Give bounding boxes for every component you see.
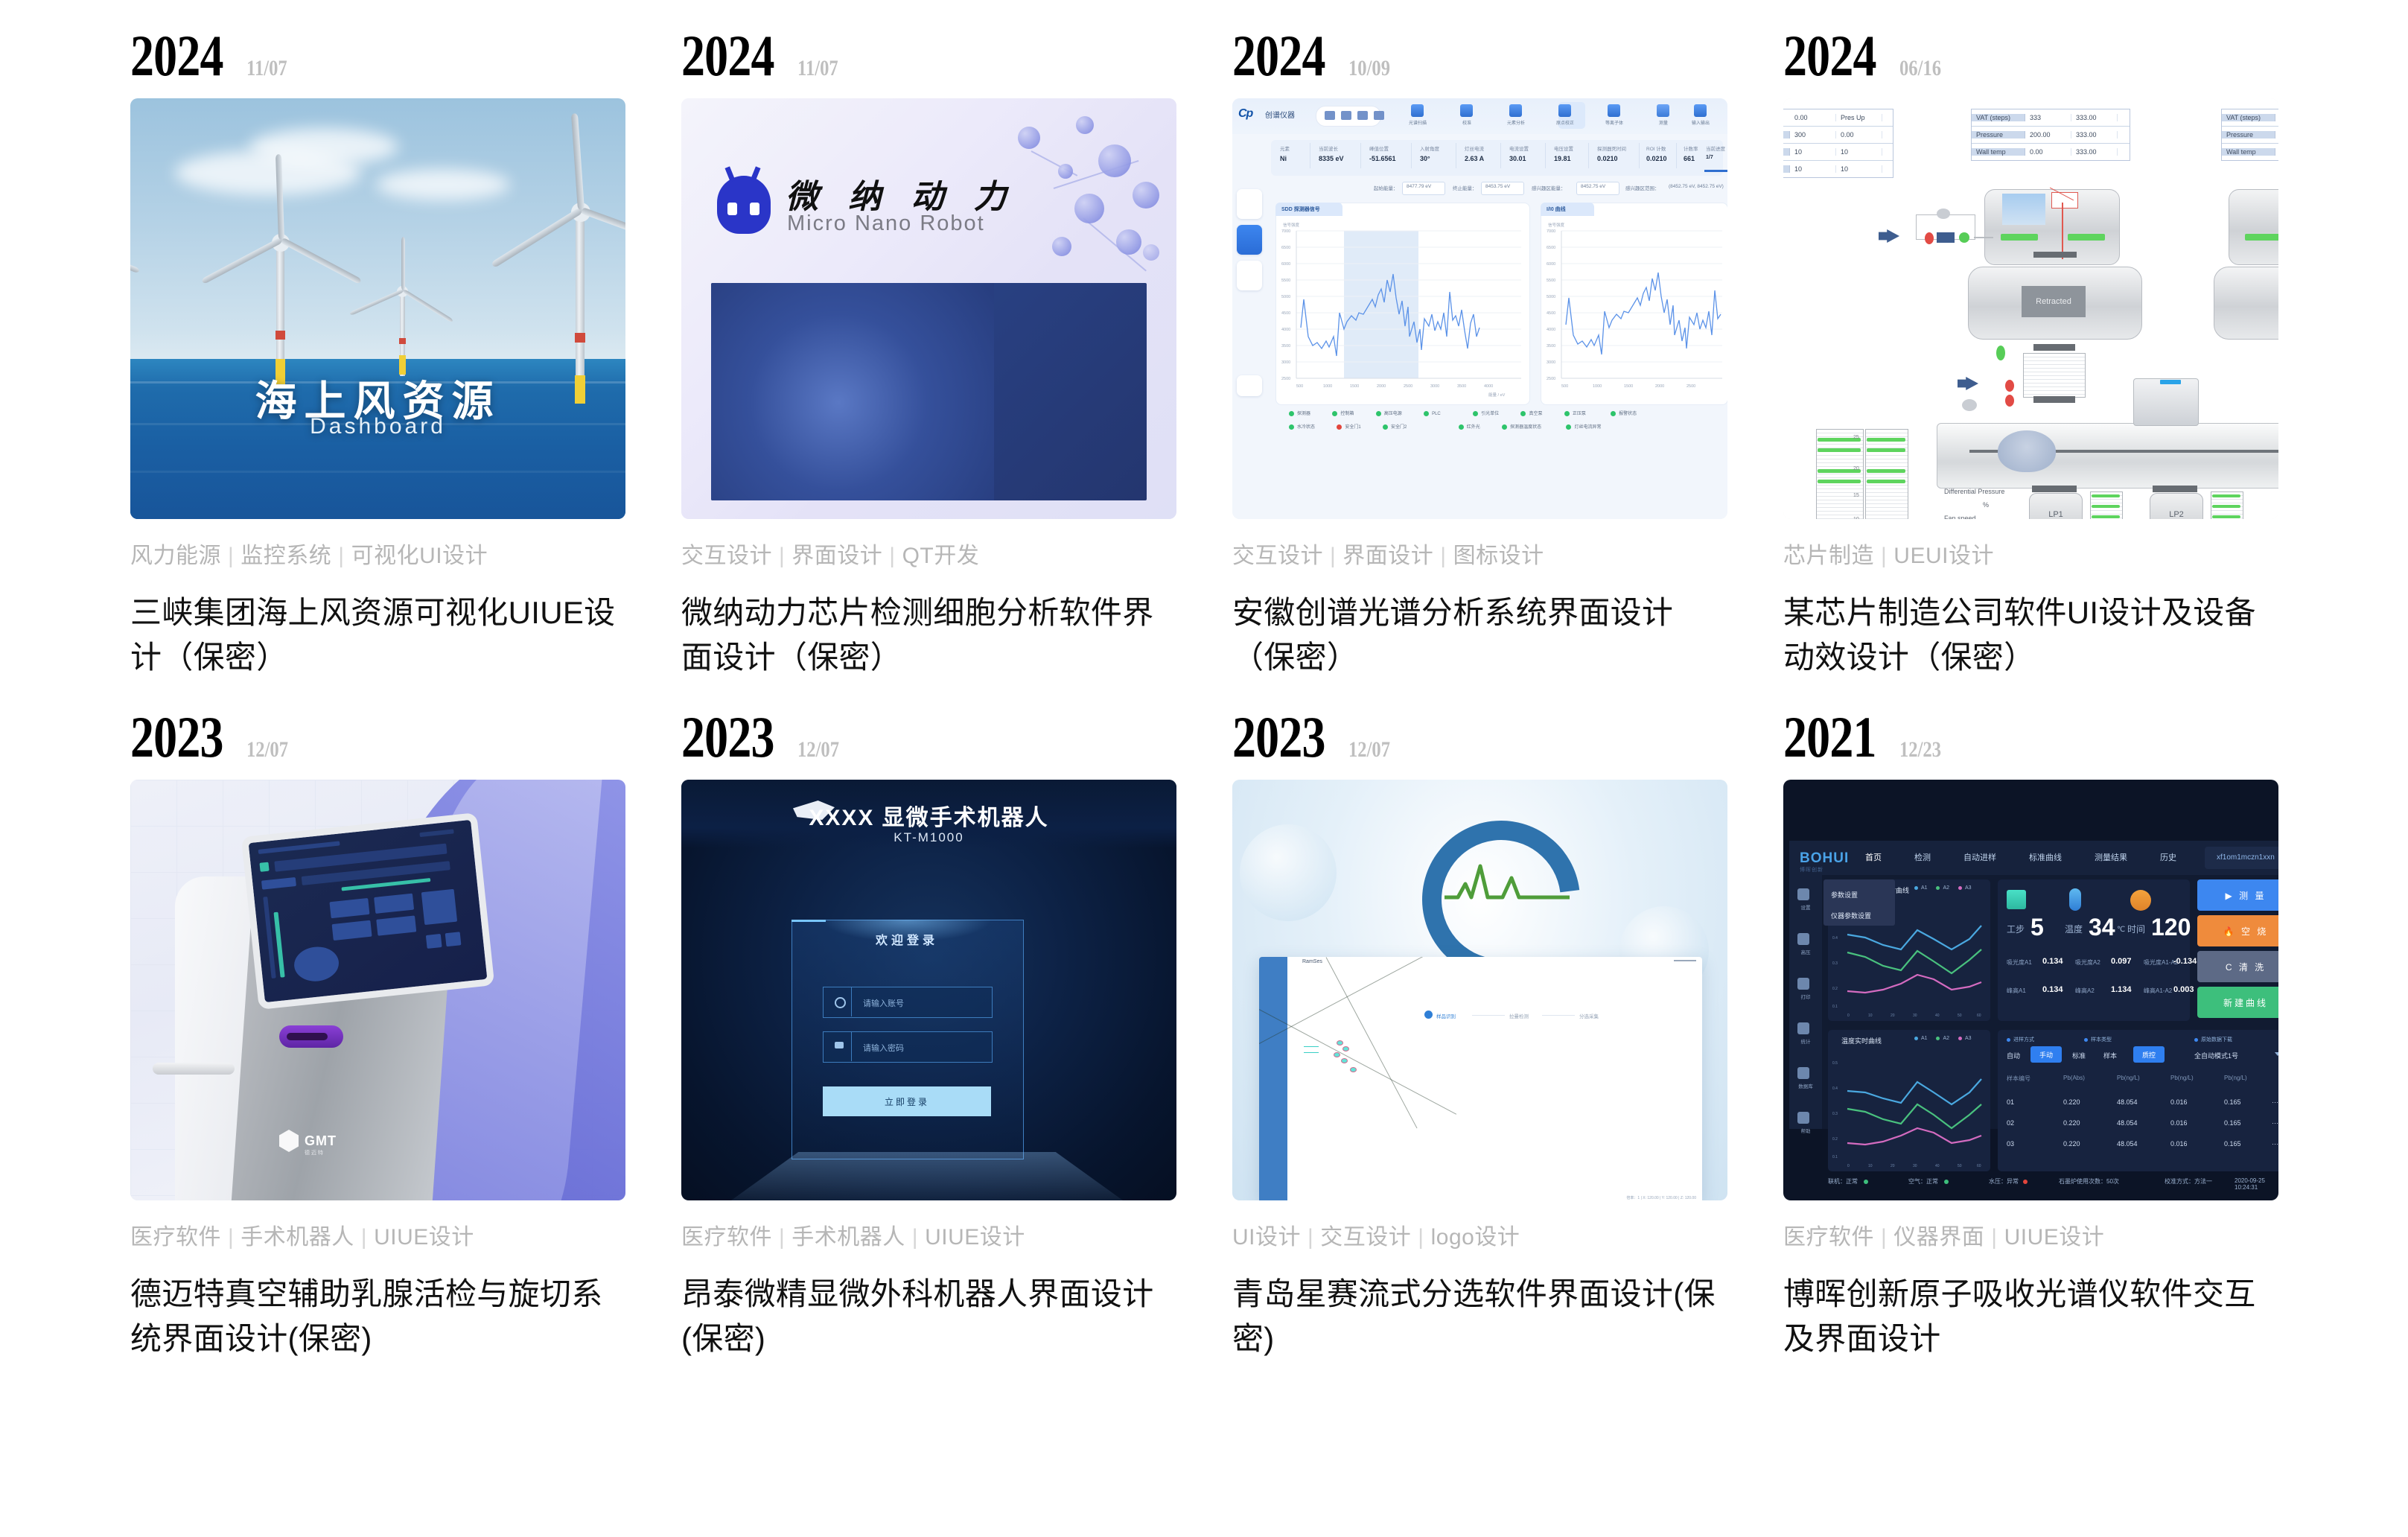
detected-cell	[1337, 1040, 1343, 1046]
project-tags: 芯片制造|UEUI设计	[1783, 541, 2278, 571]
molecule-node	[1133, 182, 1159, 209]
table-cell: 300	[1790, 131, 1836, 139]
turbo-pump	[2023, 353, 2086, 398]
table-cell: 333.00	[2071, 148, 2118, 156]
radio-standard[interactable]: 标准	[2072, 1051, 2086, 1060]
screen-button[interactable]	[374, 894, 414, 914]
wafer-slot-filled	[1867, 448, 1905, 452]
status-label: 正压泵	[1573, 412, 1586, 416]
app-toolbar	[1232, 98, 1727, 134]
table-cell: Pres Up	[1836, 114, 1882, 121]
svg-text:60: 60	[1977, 1013, 1981, 1018]
table-cell: 0.220	[2063, 1140, 2080, 1148]
side-button-measure-mode[interactable]	[1237, 189, 1262, 219]
project-thumbnail-surgical-robot-login[interactable]: XXXX 显微手术机器人 KT-M1000 欢迎登录 请输入账号 请输入密码 立…	[681, 780, 1176, 1200]
crosshair-line	[1328, 1028, 1328, 1040]
svg-text:5500: 5500	[1547, 279, 1555, 283]
user-avatar[interactable]	[1237, 401, 1262, 421]
svg-text:0.1: 0.1	[1832, 1005, 1838, 1009]
project-thumbnail-micro-nano-robot[interactable]: 微 纳 动 力 Micro Nano Robot 微 纳 动 力 您好！欢迎登录…	[681, 98, 1176, 519]
screen-tab[interactable]	[261, 877, 296, 890]
toolbar-icon-scan[interactable]	[1411, 104, 1424, 117]
stat-key: 电流设置	[1509, 144, 1529, 152]
login-button[interactable]: 立即登录	[823, 1086, 991, 1116]
readout-value: 0.134	[2042, 985, 2063, 994]
nav-item-results[interactable]: 测量结果	[2095, 851, 2127, 863]
svg-text:3000: 3000	[1547, 360, 1555, 365]
table-cell: 48.054	[2117, 1140, 2138, 1148]
project-thumbnail-offshore-wind[interactable]: 海上风资源 Dashboard	[130, 98, 625, 519]
row-actions[interactable]: ···	[2272, 1140, 2278, 1148]
status-dot-green	[1611, 411, 1616, 416]
screen-button[interactable]	[329, 898, 369, 918]
login-window-mockup: 微 纳 动 力 您好！欢迎登录 账号登录 验证码登录 请输入账号 请输入密码 请…	[711, 283, 1147, 500]
svg-text:20: 20	[1891, 1013, 1895, 1018]
project-card[interactable]: 2024 10/09 Cp 创谱仪器 光谱扫描 校准 元素分析 原点校正	[1232, 27, 1727, 680]
svg-text:0.2: 0.2	[1832, 987, 1838, 991]
new-curve-button[interactable]: 新建曲线	[2197, 987, 2278, 1018]
load-port-flange	[2032, 486, 2077, 492]
popup-item-params[interactable]: 参数设置	[1831, 890, 1858, 900]
table-cell: 02	[2007, 1119, 2014, 1127]
table-cell: 0.220	[2063, 1119, 2080, 1127]
project-title[interactable]: 某芯片制造公司软件UI设计及设备动效设计（保密）	[1783, 591, 2278, 680]
project-title[interactable]: 微纳动力芯片检测细胞分析软件界面设计（保密）	[681, 591, 1176, 680]
pressure-table: 0.00Pres Up PB3000.00 PB1010 PC1010	[1783, 109, 1893, 178]
row-actions[interactable]: ···	[2272, 1098, 2278, 1106]
status-water: 水压：异常	[1989, 1177, 2019, 1186]
indicator-green	[2001, 234, 2038, 241]
project-tags: 医疗软件|手术机器人|UIUE设计	[681, 1223, 1176, 1253]
table-header: Pb(ng/L)	[2117, 1075, 2140, 1081]
lock-icon	[835, 1042, 844, 1048]
kpi-label-time: 时间	[2127, 923, 2145, 935]
sidebar-icon-records[interactable]	[1797, 1067, 1809, 1079]
svg-text:2500: 2500	[1404, 384, 1412, 389]
year-header: 2024 10/09	[1232, 27, 1727, 98]
date-label: 11/07	[797, 57, 838, 80]
readout-key: 吸光度A1	[2007, 958, 2032, 967]
readout-value: 0.134	[2042, 957, 2063, 966]
wafer-slot-filled	[2212, 505, 2240, 508]
svg-text:能量 / eV: 能量 / eV	[1488, 392, 1506, 398]
year-label: 2024	[130, 27, 223, 85]
start-button[interactable]: ▶ 测 量	[2197, 879, 2278, 911]
valve-closed-icon	[2005, 380, 2014, 392]
project-thumbnail-medical-device[interactable]: GMT 德迈特	[130, 780, 625, 1200]
nav-item-autosampler[interactable]: 自动进样	[1963, 851, 1996, 863]
status-label: 引光单位	[1481, 412, 1499, 416]
tag: 界面设计	[1342, 544, 1433, 568]
window-controls[interactable]	[1674, 960, 1696, 961]
status-dot-red	[1337, 424, 1342, 430]
stat-key: 灯丝电流	[1465, 144, 1484, 152]
toolbar-icon-origin[interactable]	[1558, 104, 1571, 117]
percent-unit-label: %	[1983, 500, 1989, 510]
indicator-green	[2068, 234, 2105, 241]
list-icon[interactable]	[1357, 111, 1368, 120]
kpi-value-temp: 34	[2089, 914, 2115, 941]
sidebar-icon-stats[interactable]	[1797, 1022, 1809, 1034]
chip-value: 8452.75 eV	[1581, 184, 1605, 189]
status-dot-green	[1289, 411, 1294, 416]
year-label: 2023	[130, 708, 223, 766]
chip-label: 感兴趣区范围：	[1625, 184, 1660, 191]
toolbar-icon-io[interactable]	[1694, 104, 1707, 117]
chip-label: 终止能量：	[1453, 184, 1477, 191]
control-group-label: 进样方式	[2007, 1036, 2034, 1043]
password-input[interactable]	[823, 1031, 993, 1063]
flow-controller	[1937, 209, 1950, 219]
tag-separator: |	[1411, 1225, 1430, 1250]
sidebar-icon-calibrate[interactable]	[1797, 933, 1809, 945]
wafer-slot-filled	[1867, 438, 1905, 442]
chamber-state-label: Retracted	[2022, 286, 2086, 317]
stat-key: 探测器死时间	[1597, 144, 1626, 152]
load-port-lp1[interactable]: LP1	[2029, 493, 2083, 519]
toolbar-label: 光谱扫描	[1405, 119, 1430, 126]
wafer-slot-filled	[1867, 480, 1905, 483]
svg-text:3500: 3500	[1281, 344, 1290, 349]
molecule-node	[1052, 237, 1071, 256]
divider	[1639, 143, 1640, 168]
status-legend-row1: 探测器 控制箱 高压电源 PLC 引光单位 真空泵 正压泵 报警状态	[1289, 410, 1637, 416]
chevron-down-icon[interactable]	[2275, 1052, 2278, 1056]
plasma-field	[2002, 194, 2045, 225]
status-label: 报警状态	[1619, 412, 1637, 416]
wave-line	[130, 471, 625, 473]
status-method: 校准方式：方法一	[2165, 1177, 2212, 1186]
tag-separator: |	[1301, 1225, 1320, 1250]
wafer-slot-filled	[1867, 469, 1905, 473]
side-button-data-export[interactable]	[1237, 261, 1262, 290]
project-thumbnail-bohui-dashboard[interactable]: BOHUI 博晖创新 首页 检测 自动进样 标准曲线 测量结果 历史 xf1om…	[1783, 780, 2278, 1200]
tag: 交互设计	[1232, 544, 1323, 568]
svg-text:2000: 2000	[1655, 384, 1664, 389]
sidebar-label: 高压	[1789, 948, 1822, 955]
table-header: 样本编号	[2007, 1075, 2030, 1083]
project-card[interactable]: 2024 11/07	[130, 27, 625, 680]
svg-text:信号强度: 信号强度	[1548, 222, 1565, 228]
svg-text:6500: 6500	[1547, 246, 1555, 250]
screen-button[interactable]	[376, 915, 416, 935]
project-card[interactable]: 2024 11/07 微 纳 动 力 Micro Nano Ro	[681, 27, 1176, 680]
tag-separator: |	[882, 544, 902, 568]
table-cell: 10	[1836, 148, 1882, 156]
clean-button[interactable]: C 清 洗	[2197, 951, 2278, 982]
year-header: 2023 12/07	[1232, 708, 1727, 780]
nav-item-standard-curve[interactable]: 标准曲线	[2029, 851, 2062, 863]
cassette-scale-15: 15	[1853, 493, 1859, 498]
toolbar-icon-calibrate[interactable]	[1460, 104, 1473, 117]
login-hero-panel	[711, 283, 994, 500]
tag: 医疗软件	[681, 1225, 772, 1250]
save-icon[interactable]	[1341, 111, 1351, 120]
tag: 仪器界面	[1893, 1225, 1984, 1250]
control-group-label: 原始数据下载	[2194, 1036, 2232, 1043]
tag: 可视化UI设计	[351, 544, 488, 568]
lock-icon[interactable]	[1374, 111, 1384, 120]
year-header: 2024 06/16	[1783, 27, 2278, 98]
radio-qc[interactable]: 质控	[2133, 1046, 2165, 1063]
project-title[interactable]: 三峡集团海上风资源可视化UIUE设计（保密）	[130, 591, 625, 680]
screen-small-button[interactable]	[426, 934, 442, 949]
legend-label: A2	[1943, 1036, 1949, 1041]
sidebar-icon-settings[interactable]	[1797, 888, 1809, 900]
turbine-marker	[575, 333, 585, 343]
project-grid: 2024 11/07	[0, 0, 2408, 1537]
project-card[interactable]: 2024 06/16 0.00Pres Up PB3000.00 PB1010 …	[1783, 27, 2278, 680]
valve-open-icon	[1959, 232, 1969, 243]
project-card[interactable]: 2021 12/23 BOHUI 博晖创新 首页 检测 自动进样 标准曲线 测量…	[1783, 708, 2278, 1361]
status-dot-green	[1473, 411, 1478, 416]
vat-table-2: VAT (steps) Pressure Wall temp	[2221, 109, 2278, 161]
svg-text:2500: 2500	[1686, 384, 1695, 389]
stat-key: 峰值位置	[1369, 144, 1389, 152]
vat-table-1: VAT (steps)333333.00 Pressure200.00333.0…	[1971, 109, 2130, 161]
toolbar-icon-measure[interactable]	[1657, 104, 1669, 117]
open-icon[interactable]	[1325, 111, 1335, 120]
account-input[interactable]	[823, 987, 993, 1018]
toolbar-icon-plasma[interactable]	[1608, 104, 1620, 117]
popup-item-instrument[interactable]: 仪器参数设置	[1831, 911, 1871, 920]
load-port-flange	[2153, 486, 2197, 492]
divider	[1588, 143, 1589, 168]
radio-auto[interactable]: 自动	[2007, 1051, 2020, 1060]
progress-bar	[1704, 170, 1727, 172]
stat-value: 1/7	[1706, 155, 1713, 160]
app-title: RamSes	[1302, 959, 1322, 964]
project-thumbnail-spectrum-dashboard[interactable]: Cp 创谱仪器 光谱扫描 校准 元素分析 原点校正 等离子体 测量 输入输出 设…	[1232, 98, 1727, 519]
svg-text:0: 0	[1847, 1164, 1850, 1168]
detected-cell	[1334, 1052, 1340, 1057]
radio-manual[interactable]: 手动	[2030, 1046, 2062, 1063]
sidebar-label: 统计	[1789, 1037, 1822, 1045]
year-header: 2023 12/07	[681, 708, 1176, 780]
readout-value: 0.003	[2173, 985, 2194, 994]
nav-item-history[interactable]: 历史	[2160, 851, 2176, 863]
stat-value: 8335 eV	[1319, 155, 1344, 162]
status-label: 灯丝电流异常	[1574, 425, 1601, 430]
status-label: 安全门1	[1345, 425, 1360, 430]
temperature-chart: 0.50.40.3 0.20.1 01020 30405060	[1828, 1046, 1990, 1170]
tag: UIUE设计	[2004, 1225, 2105, 1250]
stat-value: 30.01	[1509, 155, 1526, 162]
svg-text:0.1: 0.1	[1832, 1155, 1838, 1159]
crosshair-line	[1304, 1052, 1319, 1053]
project-card[interactable]: 2023 12/07	[130, 708, 625, 1361]
wafer-cassette-1	[1816, 429, 1864, 519]
sdd-signal-chart: 700065006000 550050004500 40003500300025…	[1275, 217, 1529, 404]
table-cell: Wall temp	[1972, 148, 2025, 156]
table-cell: Pressure	[1972, 131, 2025, 139]
status-dot-green	[1459, 424, 1464, 430]
svg-text:0.4: 0.4	[1832, 1086, 1838, 1091]
row-actions[interactable]: ···	[2272, 1119, 2278, 1127]
molecule-node	[1098, 144, 1131, 177]
tag-separator: |	[905, 1225, 925, 1250]
legend-label: A2	[1943, 885, 1949, 891]
project-thumbnail-flow-cytometry[interactable]: 实时控制 样品检测 分选控制 数据分析 RamSes	[1232, 780, 1727, 1200]
stat-key: 当前进度	[1706, 144, 1725, 152]
brand-name: 创谱仪器	[1265, 109, 1295, 120]
project-tags: 医疗软件|仪器界面|UIUE设计	[1783, 1223, 2278, 1253]
tag: 医疗软件	[1783, 1225, 1874, 1250]
toolbar-icon-element[interactable]	[1509, 104, 1522, 117]
side-button-power[interactable]	[1237, 375, 1262, 396]
project-title[interactable]: 青岛星赛流式分选软件界面设计(保密)	[1232, 1272, 1727, 1361]
svg-text:2500: 2500	[1547, 377, 1555, 381]
svg-text:60: 60	[1977, 1164, 1981, 1168]
status-label: 真空泵	[1529, 412, 1542, 416]
tag: 交互设计	[1320, 1225, 1411, 1250]
project-title[interactable]: 博晖创新原子吸收光谱仪软件交互及界面设计	[1783, 1272, 2278, 1361]
device-brand: GMT	[305, 1133, 337, 1149]
table-row: PC1010	[1783, 161, 1893, 177]
table-cell: PB	[1783, 148, 1790, 156]
screen-panel	[421, 889, 457, 925]
screen-small-button[interactable]	[445, 932, 462, 946]
project-card[interactable]: 2023 12/07 XXXX 显微手术机器人 KT-M1000 欢迎登录 请输…	[681, 708, 1176, 1361]
status-furnace-count: 石墨炉使用次数：50次	[2059, 1177, 2119, 1186]
svg-text:7000: 7000	[1547, 229, 1555, 234]
tag: 监控系统	[241, 544, 331, 568]
project-card[interactable]: 2023 12/07 实时控制 样品检测 分选控制	[1232, 708, 1727, 1361]
sidebar-label: 打印	[1789, 993, 1822, 1000]
svg-text:1500: 1500	[1350, 384, 1359, 389]
cassette-scale-25: 25	[1853, 435, 1859, 440]
step-dot-active	[1424, 1011, 1433, 1019]
nav-item-home[interactable]: 首页	[1865, 851, 1882, 863]
load-port-name: LP1	[2048, 510, 2063, 519]
stat-value: 0.0210	[1646, 155, 1667, 162]
device-touchscreen[interactable]	[241, 812, 495, 1010]
kpi-unit-temp: ℃	[2117, 926, 2125, 934]
kpi-value-step: 5	[2030, 914, 2044, 941]
nav-item-detect[interactable]: 检测	[1914, 851, 1931, 863]
status-dot-green	[1564, 411, 1570, 416]
svg-text:1500: 1500	[1624, 384, 1633, 389]
aligner-module	[2133, 378, 2199, 426]
readout-key: 峰高A1	[2007, 987, 2026, 995]
divider	[1456, 143, 1456, 168]
tag: 图标设计	[1453, 544, 1544, 568]
svg-text:4000: 4000	[1547, 328, 1555, 332]
chip-value: 8477.79 eV	[1407, 184, 1431, 189]
table-row: Wall temp0.00333.00	[1972, 144, 2130, 160]
svg-text:0: 0	[1847, 1013, 1850, 1018]
chart-tab-sdd[interactable]: SDD 探测器信号	[1275, 203, 1342, 216]
table-cell: PB	[1783, 131, 1790, 139]
chart-tab-ii0[interactable]: I/I0 曲线	[1541, 203, 1594, 216]
divider	[1545, 143, 1546, 168]
table-row: Pressure200.00333.00	[1972, 127, 2130, 144]
detected-cell	[1342, 1046, 1349, 1051]
project-tags: UI设计|交互设计|logo设计	[1232, 1223, 1727, 1253]
beam-line	[2062, 203, 2063, 259]
svg-text:6000: 6000	[1547, 262, 1555, 267]
project-title[interactable]: 德迈特真空辅助乳腺活检与旋切系统界面设计(保密)	[130, 1272, 625, 1361]
year-label: 2024	[681, 27, 774, 85]
legend-dot-a3	[1958, 886, 1962, 890]
toolbar-label: 等离子体	[1602, 119, 1627, 126]
step-label: 拉曼检测	[1509, 1012, 1529, 1019]
date-label: 12/07	[246, 739, 288, 761]
screen-dial[interactable]	[293, 945, 340, 984]
valve-closed-icon	[2005, 395, 2014, 407]
side-button-active-mode[interactable]	[1237, 225, 1262, 255]
tag: 手术机器人	[791, 1225, 905, 1250]
date-label: 06/16	[1899, 57, 1941, 80]
legend-label: A1	[1921, 1036, 1928, 1041]
robot-logo-icon	[717, 176, 771, 234]
group-dot	[2007, 1038, 2010, 1042]
svg-text:3000: 3000	[1430, 384, 1439, 389]
status-air: 空气：正常	[1908, 1177, 1938, 1186]
table-cell: 48.054	[2117, 1119, 2138, 1127]
login-welcome: 欢迎登录	[791, 930, 1022, 948]
svg-text:2500: 2500	[1281, 377, 1290, 381]
status-dot-green	[1502, 424, 1507, 430]
svg-text:0.2: 0.2	[1832, 1137, 1838, 1142]
svg-text:500: 500	[1561, 384, 1568, 389]
svg-text:50: 50	[1958, 1013, 1962, 1018]
project-thumbnail-semiconductor-scada[interactable]: 0.00Pres Up PB3000.00 PB1010 PC1010 VAT …	[1783, 98, 2278, 519]
tag-separator: |	[772, 544, 791, 568]
screen-gauge	[263, 897, 275, 978]
mass-flow-icon	[1962, 399, 1977, 411]
cassette-scale-20: 20	[1853, 466, 1859, 471]
wafer-slot-filled	[2212, 494, 2240, 497]
cloud-shape	[376, 169, 510, 200]
table-cell: 0.165	[2224, 1119, 2241, 1127]
project-title[interactable]: 安徽创谱光谱分析系统界面设计（保密）	[1232, 591, 1727, 680]
status-label: 红外光	[1467, 425, 1480, 430]
divider	[1411, 143, 1412, 168]
divider	[1676, 143, 1677, 168]
status-bar: 倍率：1 | X: 120.00 | Y: 120.00 | Z: 120.00	[1626, 1195, 1696, 1200]
toolbar-label: 原点校正	[1552, 119, 1578, 126]
stat-key: 元素	[1280, 144, 1290, 152]
status-dot-green	[1944, 1180, 1949, 1184]
stat-value: 2.63 A	[1465, 155, 1484, 162]
device-brand-cn: 德迈特	[305, 1149, 325, 1156]
radio-sample[interactable]: 样本	[2103, 1051, 2117, 1060]
load-port-lp2[interactable]: LP2	[2150, 493, 2203, 519]
screen-button[interactable]	[332, 920, 372, 941]
year-header: 2024 11/07	[681, 27, 1176, 98]
project-tags: 交互设计|界面设计|QT开发	[681, 541, 1176, 571]
sidebar-icon-help[interactable]	[1797, 1112, 1809, 1124]
project-title[interactable]: 昂泰微精显微外科机器人界面设计(保密)	[681, 1272, 1176, 1361]
timer-icon	[2130, 890, 2151, 911]
readout-key: 峰高A2	[2075, 987, 2095, 995]
warmup-button[interactable]: 🔥 空 烧	[2197, 915, 2278, 946]
stat-value: 0.0210	[1597, 155, 1618, 162]
tag-separator: |	[221, 544, 241, 568]
mode-select[interactable]: 全自动模式1号	[2194, 1051, 2238, 1060]
tag: UIUE设计	[374, 1225, 474, 1250]
status-timestamp: 2020-09-25 10:24:31	[2235, 1177, 2278, 1191]
device-handle	[153, 1063, 235, 1075]
sidebar-icon-print[interactable]	[1797, 978, 1809, 990]
process-chamber-top-right	[2229, 189, 2278, 265]
toolbar-label: 输入输出	[1688, 119, 1713, 126]
table-cell: PC	[1783, 165, 1790, 173]
cassette-scale-10: 10	[1853, 517, 1859, 519]
status-dot-green	[1332, 411, 1337, 416]
divider	[1310, 143, 1310, 168]
